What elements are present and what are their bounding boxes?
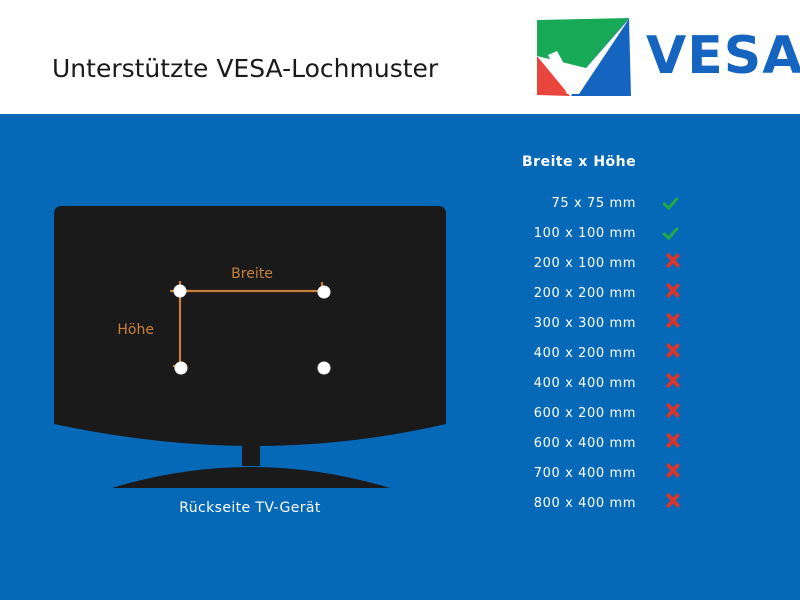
table-row: 800 x 400 mm xyxy=(500,488,720,518)
pattern-size-label: 400 x 200 mm xyxy=(500,346,636,361)
cross-icon xyxy=(665,433,681,449)
cross-icon xyxy=(665,463,681,479)
vesa-logo: VESA xyxy=(534,16,784,98)
content-panel: Breite Höhe Rückseite TV-Gerät Breite x … xyxy=(0,114,800,600)
pattern-status-cell xyxy=(636,253,698,273)
tv-caption: Rückseite TV-Gerät xyxy=(50,500,450,516)
vesa-wordmark: VESA xyxy=(646,27,800,85)
pattern-status-cell xyxy=(636,373,698,393)
pattern-status-cell xyxy=(636,283,698,303)
mount-hole-top-right-icon xyxy=(318,286,331,299)
pattern-status-cell xyxy=(636,493,698,513)
mount-hole-bottom-right-icon xyxy=(318,362,331,375)
mount-hole-top-left-icon xyxy=(174,285,187,298)
table-row: 200 x 200 mm xyxy=(500,278,720,308)
cross-icon xyxy=(665,253,681,269)
tv-neck xyxy=(242,444,260,466)
cross-icon xyxy=(665,493,681,509)
tv-base xyxy=(112,467,390,488)
table-row-list: 75 x 75 mm100 x 100 mm200 x 100 mm200 x … xyxy=(500,188,720,518)
mount-hole-bottom-left-icon xyxy=(175,362,188,375)
check-icon xyxy=(664,222,682,240)
pattern-status-cell xyxy=(636,433,698,453)
cross-icon xyxy=(665,373,681,389)
cross-icon xyxy=(665,343,681,359)
height-label: Höhe xyxy=(117,322,154,338)
cross-icon xyxy=(665,283,681,299)
page-header: Unterstützte VESA-Lochmuster VESA xyxy=(0,0,800,114)
table-row: 600 x 200 mm xyxy=(500,398,720,428)
pattern-status-cell xyxy=(636,463,698,483)
table-row: 75 x 75 mm xyxy=(500,188,720,218)
pattern-size-label: 300 x 300 mm xyxy=(500,316,636,331)
table-row: 200 x 100 mm xyxy=(500,248,720,278)
pattern-status-cell xyxy=(636,343,698,363)
check-icon xyxy=(664,192,682,210)
pattern-size-label: 600 x 200 mm xyxy=(500,406,636,421)
table-row: 300 x 300 mm xyxy=(500,308,720,338)
pattern-size-label: 200 x 200 mm xyxy=(500,286,636,301)
table-column-header: Breite x Höhe xyxy=(500,154,720,170)
table-row: 700 x 400 mm xyxy=(500,458,720,488)
pattern-size-label: 600 x 400 mm xyxy=(500,436,636,451)
table-row: 400 x 400 mm xyxy=(500,368,720,398)
vesa-logo-mark-icon xyxy=(534,16,632,98)
pattern-size-label: 800 x 400 mm xyxy=(500,496,636,511)
table-row: 100 x 100 mm xyxy=(500,218,720,248)
vesa-info-page: Unterstützte VESA-Lochmuster VESA xyxy=(0,0,800,600)
table-row: 400 x 200 mm xyxy=(500,338,720,368)
pattern-size-label: 200 x 100 mm xyxy=(500,256,636,271)
pattern-status-cell xyxy=(636,222,698,244)
pattern-status-cell xyxy=(636,313,698,333)
tv-rear-illustration: Breite Höhe xyxy=(50,196,450,501)
vesa-pattern-table: Breite x Höhe 75 x 75 mm100 x 100 mm200 … xyxy=(500,154,720,518)
cross-icon xyxy=(665,313,681,329)
cross-icon xyxy=(665,403,681,419)
table-row: 600 x 400 mm xyxy=(500,428,720,458)
pattern-size-label: 100 x 100 mm xyxy=(500,226,636,241)
pattern-size-label: 400 x 400 mm xyxy=(500,376,636,391)
pattern-status-cell xyxy=(636,192,698,214)
pattern-status-cell xyxy=(636,403,698,423)
tv-body xyxy=(54,206,446,446)
pattern-size-label: 75 x 75 mm xyxy=(500,196,636,211)
width-label: Breite xyxy=(231,266,273,282)
page-title: Unterstützte VESA-Lochmuster xyxy=(52,54,438,83)
pattern-size-label: 700 x 400 mm xyxy=(500,466,636,481)
